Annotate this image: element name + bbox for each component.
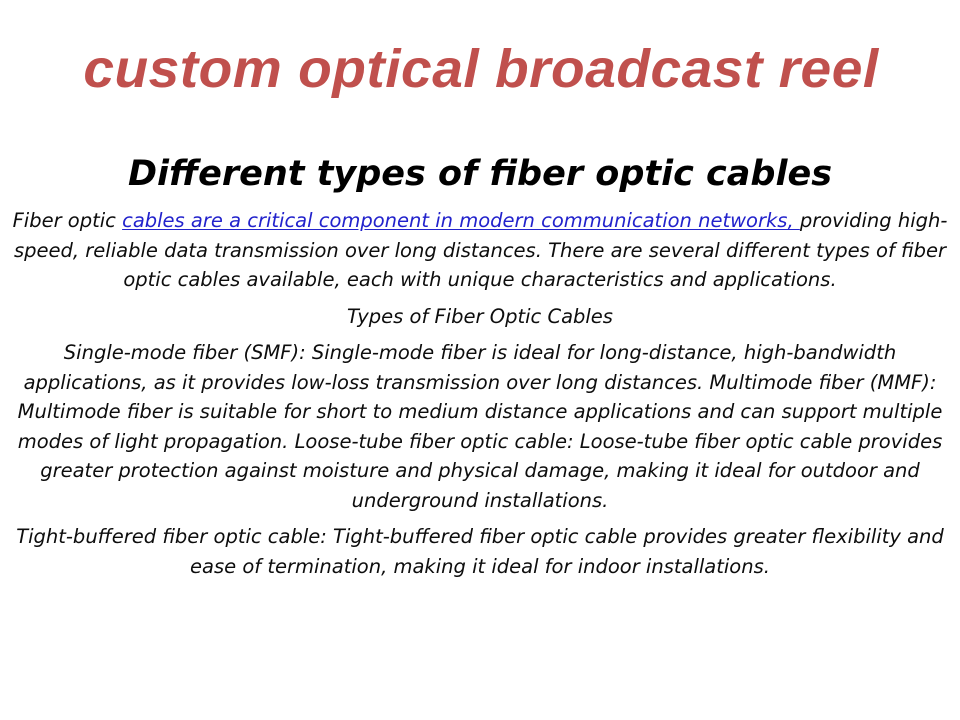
paragraph-intro: Fiber optic cables are a critical compon… bbox=[10, 206, 950, 295]
section-heading: Different types of fiber optic cables bbox=[20, 152, 940, 196]
paragraph-types-subhead: Types of Fiber Optic Cables bbox=[10, 302, 950, 332]
page-title: custom optical broadcast reel bbox=[5, 38, 958, 100]
types-subhead-text: Types of Fiber Optic Cables bbox=[347, 305, 613, 328]
body-text-block: Fiber optic cables are a critical compon… bbox=[10, 206, 950, 581]
paragraph-cable-types: Single-mode fiber (SMF): Single-mode fib… bbox=[10, 338, 950, 515]
intro-lead-text: Fiber optic bbox=[13, 209, 123, 232]
slide-canvas: custom optical broadcast reel Different … bbox=[0, 0, 960, 720]
paragraph-tight-buffered: Tight-buffered fiber optic cable: Tight-… bbox=[10, 522, 950, 581]
inline-hyperlink[interactable]: cables are a critical component in moder… bbox=[122, 209, 800, 232]
cable-type-tight-buffered: Tight-buffered fiber optic cable: Tight-… bbox=[16, 525, 944, 578]
